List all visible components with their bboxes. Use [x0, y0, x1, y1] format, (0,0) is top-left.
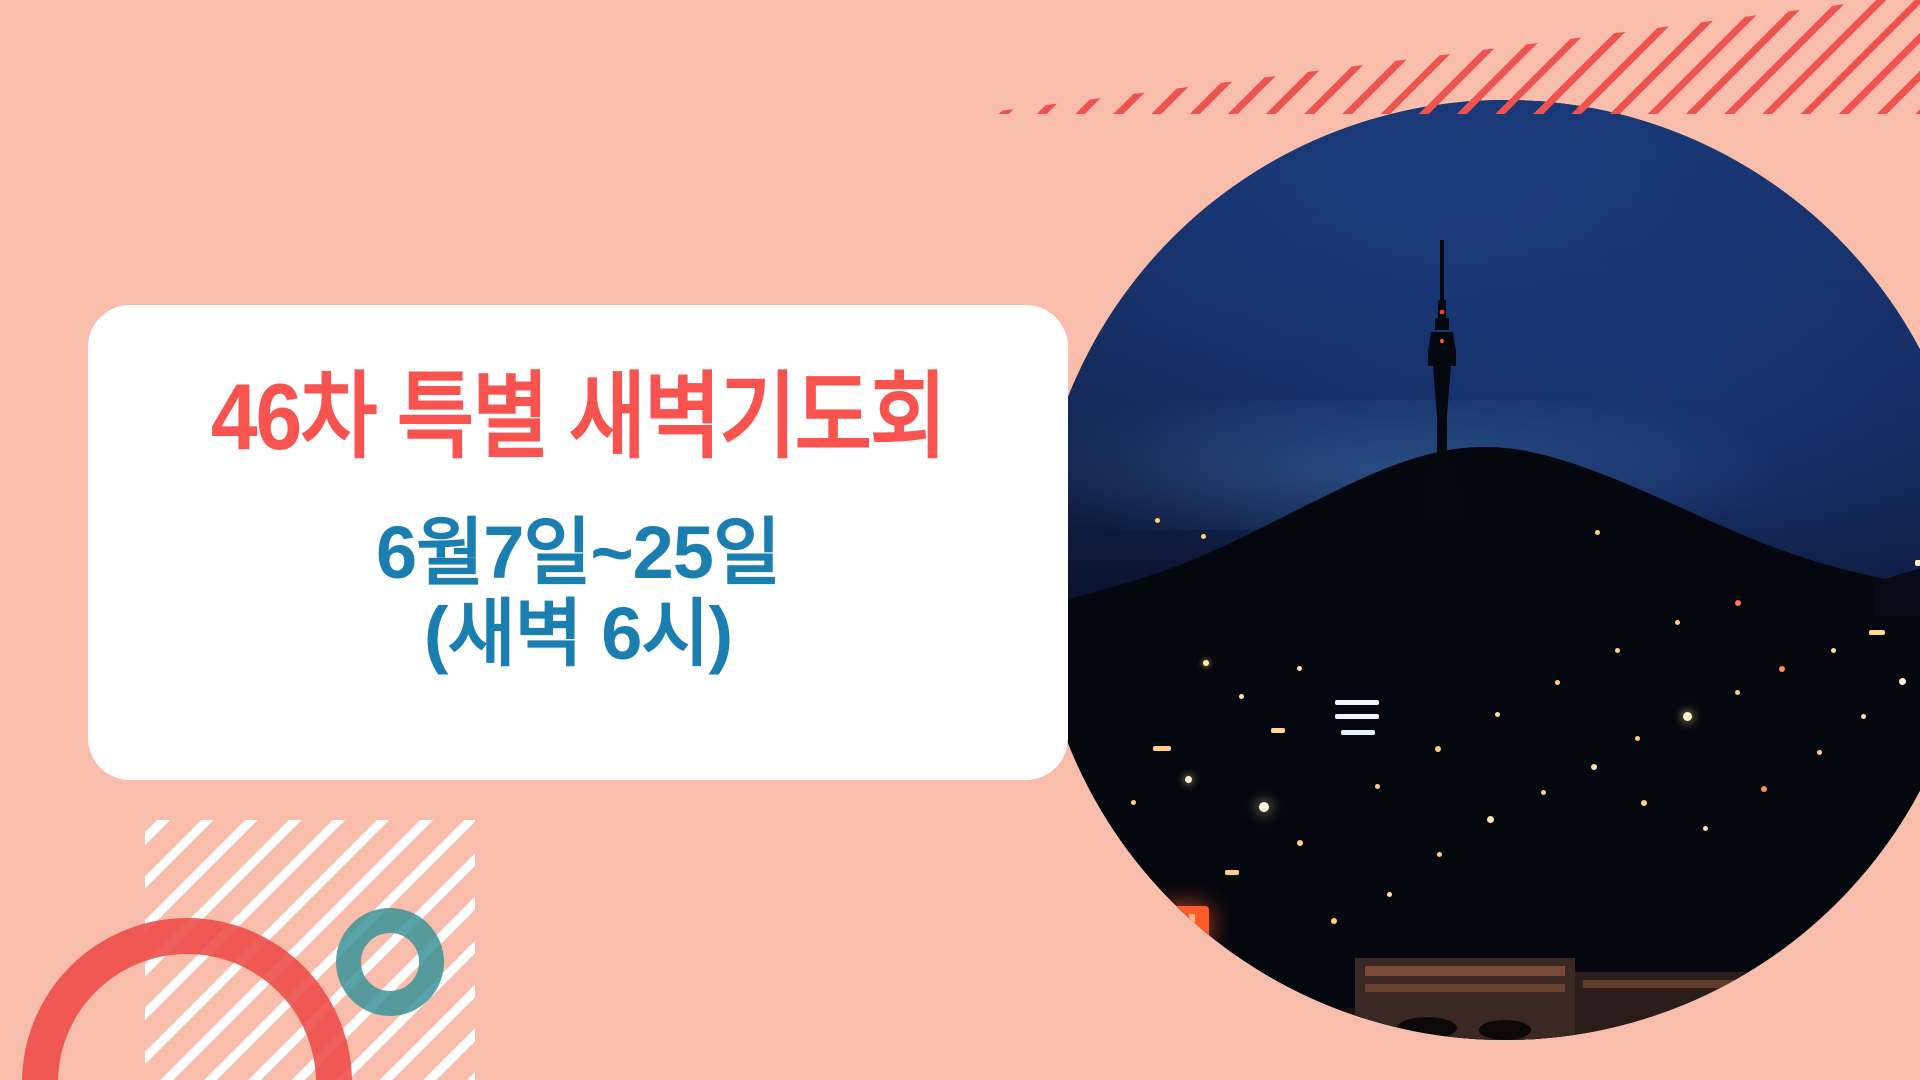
teal-ring [336, 908, 444, 1016]
poster-date-range: 6월7일~25일 [376, 515, 780, 592]
namsan-tower-silhouette [1407, 240, 1477, 520]
night-cityscape-photo [1035, 100, 1920, 1040]
poster-time-note: (새벽 6시) [376, 596, 780, 673]
foreground-buildings [1035, 840, 1920, 1040]
poster-title: 46차 특별 새벽기도회 [211, 367, 945, 466]
content-card: 46차 특별 새벽기도회 6월7일~25일 (새벽 6시) [88, 305, 1068, 780]
poster-schedule: 6월7일~25일 (새벽 6시) [376, 515, 780, 673]
